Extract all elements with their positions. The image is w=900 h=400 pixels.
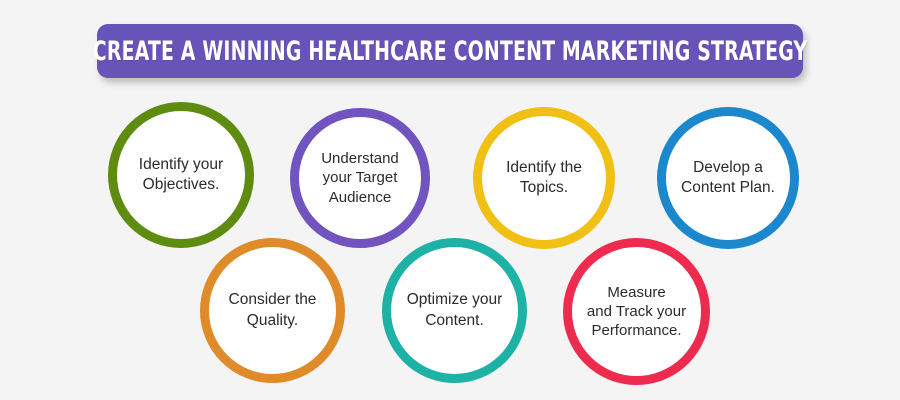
infographic-canvas: Create a Winning Healthcare Content Mark… [0, 0, 900, 400]
step-circle-identify-objectives[interactable]: Identify your Objectives. [108, 102, 254, 248]
step-circle-consider-quality[interactable]: Consider the Quality. [200, 238, 345, 383]
step-label-measure-performance: Measure and Track your Performance. [578, 283, 695, 341]
page-title: Create a Winning Healthcare Content Mark… [93, 38, 808, 65]
step-label-consider-quality: Consider the Quality. [220, 290, 326, 330]
step-circle-develop-content-plan[interactable]: Develop a Content Plan. [657, 107, 799, 249]
step-circle-optimize-content[interactable]: Optimize your Content. [382, 238, 527, 383]
step-label-understand-audience: Understand your Target Audience [312, 149, 408, 207]
step-circle-identify-topics[interactable]: Identify the Topics. [473, 107, 615, 249]
step-label-optimize-content: Optimize your Content. [398, 290, 512, 330]
step-circle-understand-audience[interactable]: Understand your Target Audience [290, 108, 430, 248]
step-label-identify-objectives: Identify your Objectives. [130, 155, 232, 195]
title-banner: Create a Winning Healthcare Content Mark… [97, 24, 803, 78]
step-label-identify-topics: Identify the Topics. [497, 158, 591, 198]
step-circle-measure-performance[interactable]: Measure and Track your Performance. [563, 238, 710, 385]
step-label-develop-content-plan: Develop a Content Plan. [672, 158, 784, 198]
